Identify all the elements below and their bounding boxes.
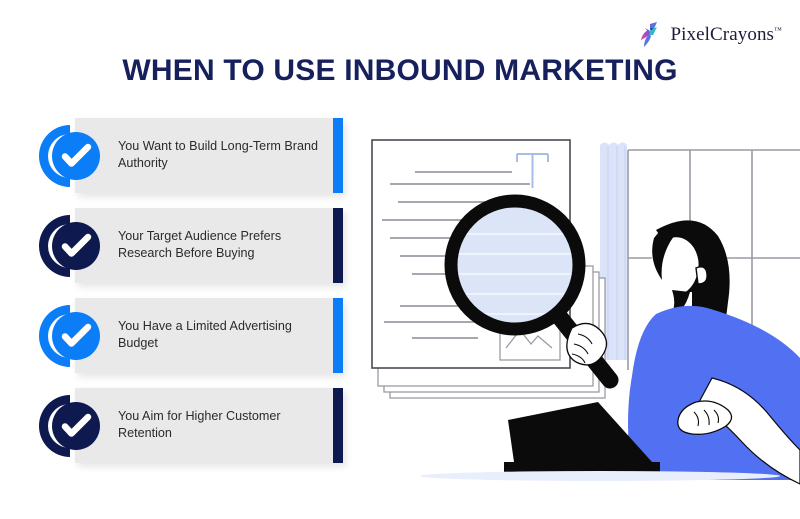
page-title: WHEN TO USE INBOUND MARKETING — [0, 54, 800, 88]
list-item-accent-bar — [333, 208, 343, 283]
list-item-label: Your Target Audience Prefers Research Be… — [118, 228, 318, 264]
check-circle-icon — [38, 301, 108, 371]
benefits-list: You Want to Build Long-Term Brand Author… — [38, 118, 343, 478]
list-item-accent-bar — [333, 298, 343, 373]
list-item[interactable]: You Want to Build Long-Term Brand Author… — [38, 118, 343, 193]
check-circle-icon — [38, 211, 108, 281]
check-circle-icon — [38, 391, 108, 461]
list-item[interactable]: Your Target Audience Prefers Research Be… — [38, 208, 343, 283]
brand-logo[interactable]: PixelCrayons™ — [635, 20, 782, 50]
list-item-label: You Aim for Higher Customer Retention — [118, 408, 318, 444]
list-item-accent-bar — [333, 118, 343, 193]
person-researching-documents-illustration — [360, 110, 800, 490]
list-item[interactable]: You Aim for Higher Customer Retention — [38, 388, 343, 463]
desk-shadow — [420, 471, 780, 481]
list-item-label: You Want to Build Long-Term Brand Author… — [118, 138, 318, 174]
list-item-accent-bar — [333, 388, 343, 463]
hummingbird-icon — [635, 20, 665, 50]
brand-name: PixelCrayons™ — [670, 24, 782, 46]
check-circle-icon — [38, 121, 108, 191]
infographic-page: PixelCrayons™ WHEN TO USE INBOUND MARKET… — [0, 0, 800, 519]
trademark-symbol: ™ — [774, 26, 782, 35]
person-at-laptop — [628, 220, 800, 484]
list-item-label: You Have a Limited Advertising Budget — [118, 318, 318, 354]
list-item[interactable]: You Have a Limited Advertising Budget — [38, 298, 343, 373]
